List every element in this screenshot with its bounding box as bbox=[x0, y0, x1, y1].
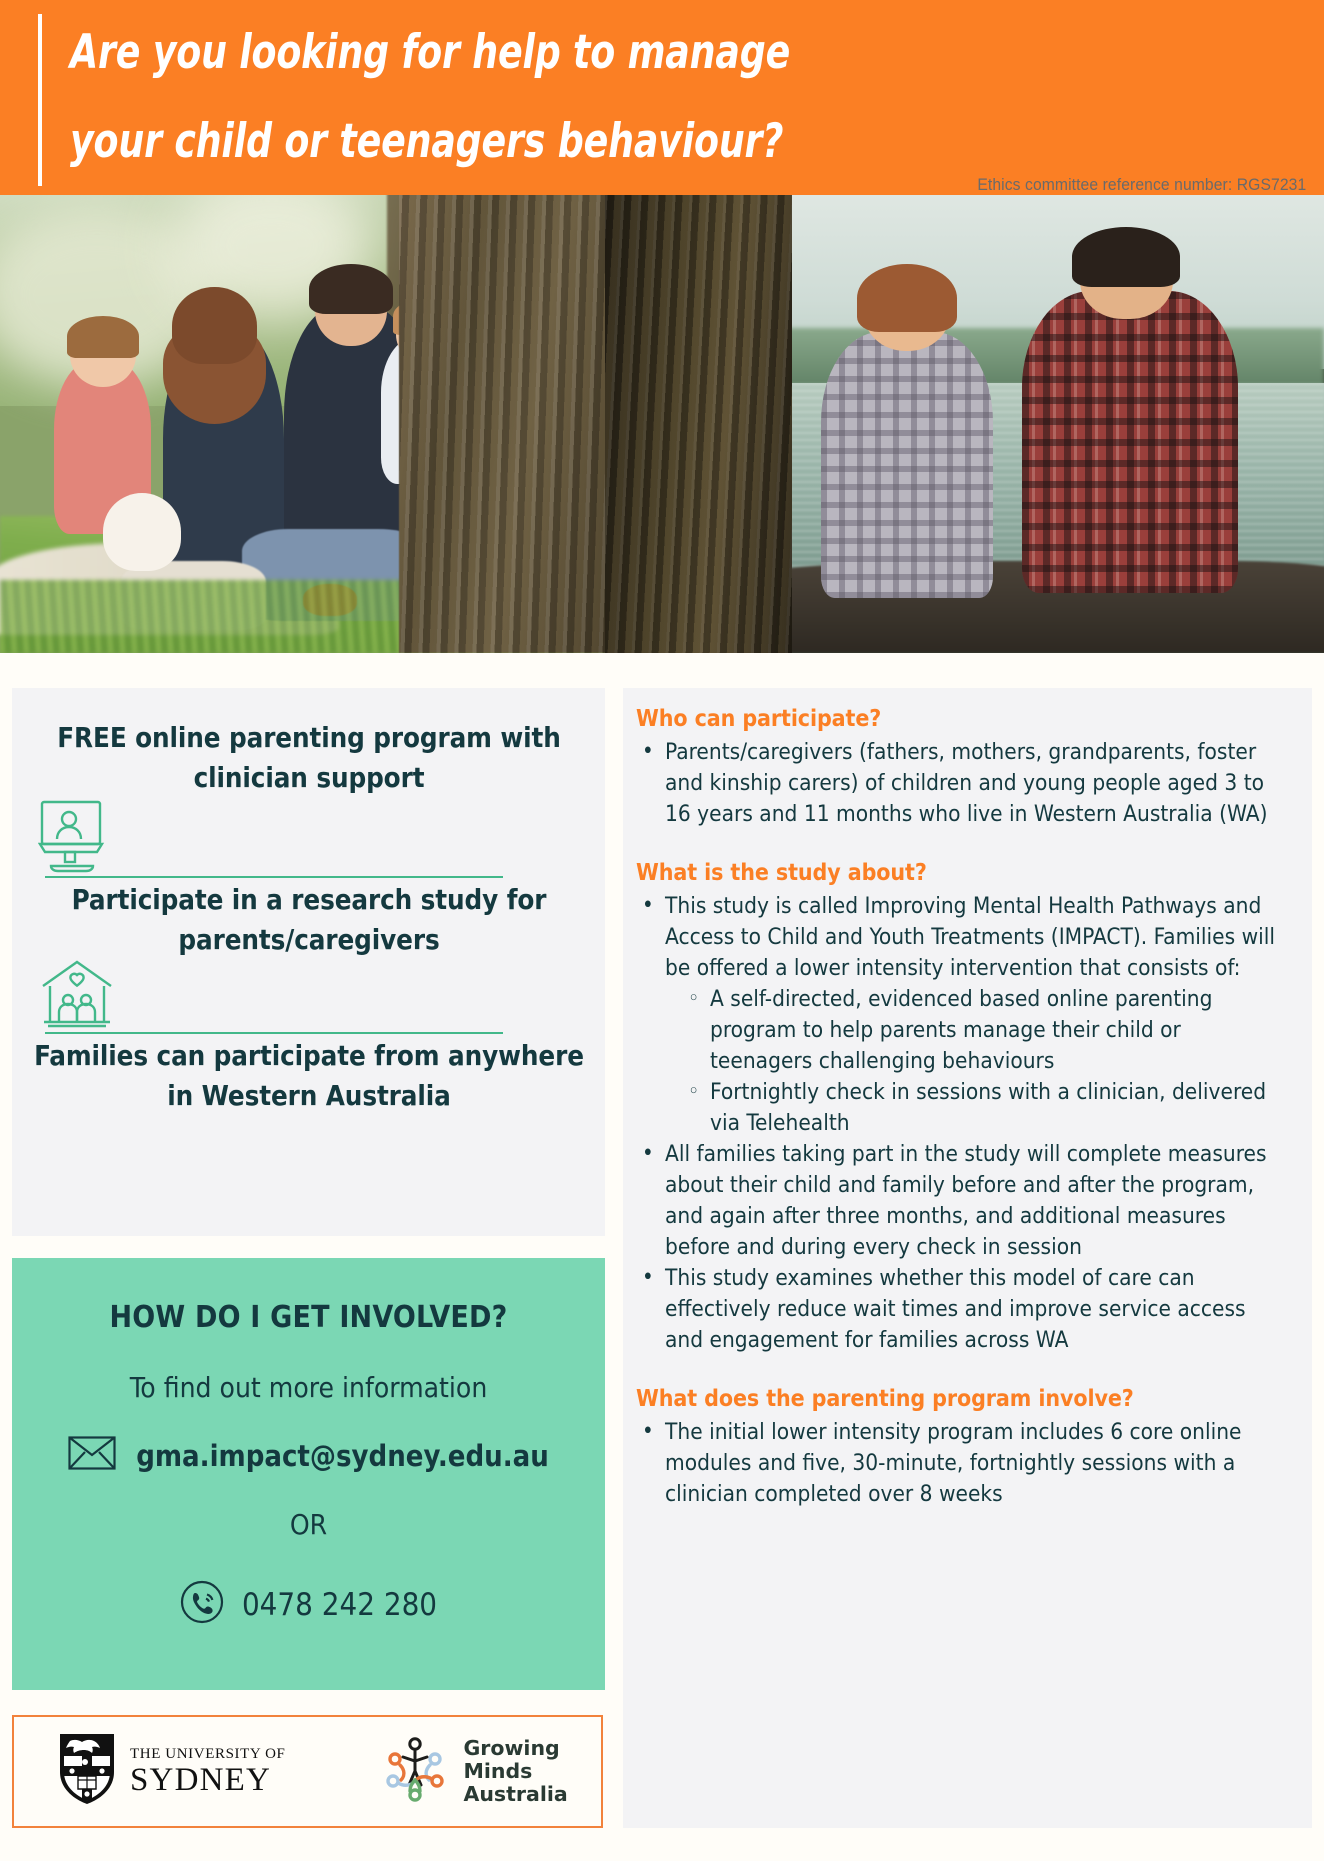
photo-family-picnic bbox=[0, 195, 605, 653]
phone-icon bbox=[180, 1580, 224, 1629]
get-involved-panel: HOW DO I GET INVOLVED? To find out more … bbox=[12, 1258, 605, 1690]
growing-minds-symbol-icon bbox=[379, 1733, 451, 1810]
growing-minds-wordmark: Growing Minds Australia bbox=[463, 1737, 567, 1806]
section-heading: What does the parenting program involve? bbox=[636, 1384, 1302, 1414]
bullet-item: The initial lower intensity program incl… bbox=[665, 1417, 1284, 1510]
bullet-item: Parents/caregivers (fathers, mothers, gr… bbox=[665, 737, 1284, 830]
page-title-line1: Are you looking for help to manage bbox=[70, 8, 1102, 97]
section-bullet-list: The initial lower intensity program incl… bbox=[613, 1417, 1302, 1510]
sydney-crest-icon bbox=[58, 1732, 116, 1811]
get-involved-title: HOW DO I GET INVOLVED? bbox=[12, 1300, 605, 1335]
bullet-item: This study examines whether this model o… bbox=[665, 1263, 1284, 1356]
study-info-sections: Who can participate?Parents/caregivers (… bbox=[613, 704, 1302, 1510]
monitor-person-icon bbox=[38, 798, 110, 874]
university-of-sydney-logo: THE UNIVERSITY OF SYDNEY bbox=[58, 1732, 285, 1811]
gma-line3: Australia bbox=[463, 1783, 567, 1806]
section-heading: What is the study about? bbox=[636, 858, 1302, 888]
bullet-item: This study is called Improving Mental He… bbox=[665, 891, 1284, 1139]
benefit-item-3-label: Families can participate from anywhere i… bbox=[34, 1036, 584, 1116]
photo-parent-and-teen-at-lake bbox=[605, 195, 1324, 653]
benefit-item-1-label: FREE online parenting program with clini… bbox=[34, 718, 584, 798]
sub-bullet-list: A self-directed, evidenced based online … bbox=[665, 984, 1284, 1139]
section-bullet-list: This study is called Improving Mental He… bbox=[613, 891, 1302, 1356]
header-banner: Are you looking for help to manage your … bbox=[0, 0, 1324, 203]
house-family-icon bbox=[38, 956, 116, 1034]
logo-footer-bar: THE UNIVERSITY OF SYDNEY Growing bbox=[12, 1715, 603, 1828]
section-bullet-list: Parents/caregivers (fathers, mothers, gr… bbox=[613, 737, 1302, 830]
email-address[interactable]: gma.impact@sydney.edu.au bbox=[136, 1439, 549, 1473]
section-heading: Who can participate? bbox=[636, 704, 1302, 734]
header-accent-rule bbox=[38, 14, 42, 186]
benefits-panel: FREE online parenting program with clini… bbox=[12, 688, 605, 1236]
university-of-sydney-wordmark: THE UNIVERSITY OF SYDNEY bbox=[130, 1747, 285, 1797]
phone-row[interactable]: 0478 242 280 bbox=[12, 1580, 605, 1629]
benefit-item-2-label: Participate in a research study for pare… bbox=[34, 880, 584, 960]
envelope-icon bbox=[68, 1436, 116, 1475]
study-info-panel: Who can participate?Parents/caregivers (… bbox=[623, 688, 1312, 1828]
sub-bullet-item: A self-directed, evidenced based online … bbox=[710, 984, 1284, 1077]
sub-bullet-item: Fortnightly check in sessions with a cli… bbox=[710, 1077, 1284, 1139]
benefit-divider-2 bbox=[45, 1032, 503, 1034]
bullet-item: All families taking part in the study wi… bbox=[665, 1139, 1284, 1263]
email-row[interactable]: gma.impact@sydney.edu.au bbox=[12, 1436, 605, 1475]
get-involved-subtitle: To find out more information bbox=[12, 1371, 605, 1404]
usyd-line2: SYDNEY bbox=[130, 1764, 285, 1797]
or-separator-label: OR bbox=[12, 1508, 605, 1541]
growing-minds-australia-logo: Growing Minds Australia bbox=[379, 1733, 567, 1810]
photo-strip bbox=[0, 195, 1324, 653]
gma-line1: Growing bbox=[463, 1737, 567, 1760]
phone-number[interactable]: 0478 242 280 bbox=[242, 1587, 437, 1623]
gma-line2: Minds bbox=[463, 1760, 567, 1783]
page-title: Are you looking for help to manage your … bbox=[70, 8, 1102, 186]
usyd-line1: THE UNIVERSITY OF bbox=[130, 1747, 285, 1762]
ethics-reference: Ethics committee reference number: RGS72… bbox=[977, 176, 1306, 195]
page-title-line2: your child or teenagers behaviour? bbox=[70, 97, 1102, 186]
benefit-divider-1 bbox=[45, 876, 503, 878]
